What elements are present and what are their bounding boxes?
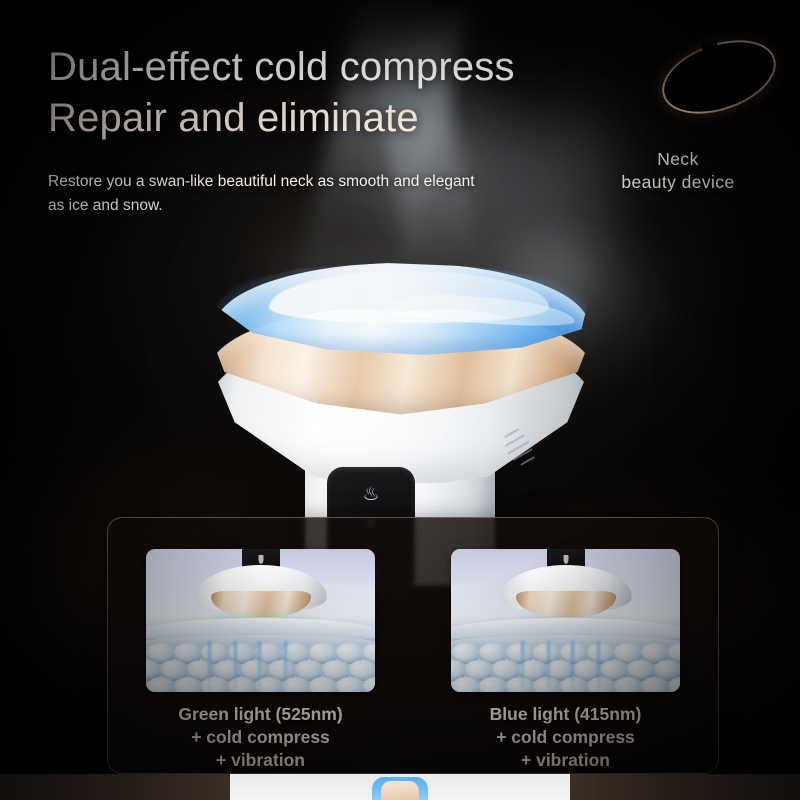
skin-cell (559, 677, 589, 692)
feature-grid: Green light (525nm) + cold compress + vi… (108, 518, 718, 773)
skin-cell (227, 677, 257, 692)
caption-line-2: + cold compress (490, 726, 642, 749)
next-section-product (372, 777, 428, 800)
plate-split-highlight (384, 290, 575, 329)
skin-cell (478, 677, 508, 692)
skin-cell (335, 677, 365, 692)
light-beam (258, 641, 261, 692)
light-beam (521, 641, 524, 692)
blue-light-illustration (451, 549, 680, 692)
flame-icon: ♨ (327, 483, 415, 506)
skin-cell (451, 677, 481, 692)
skin-cell (173, 677, 203, 692)
skin-cells-layer (451, 643, 680, 692)
feature-card-green-light[interactable]: Green light (525nm) + cold compress + vi… (135, 549, 387, 771)
caption-line-3: + vibration (490, 749, 642, 772)
light-beam (234, 641, 237, 692)
green-light-illustration (146, 549, 375, 692)
mini-gold-band (211, 591, 311, 617)
brand-label: Neck beauty device (578, 148, 778, 194)
strip-edge-left (0, 774, 230, 800)
skin-cell (505, 677, 535, 692)
headline-block: Dual-effect cold compress Repair and eli… (48, 42, 648, 144)
subtitle-text: Restore you a swan-like beautiful neck a… (48, 170, 478, 218)
caption-line-1: Green light (525nm) (178, 703, 342, 726)
brand-label-line-1: Neck (578, 148, 778, 171)
skin-cell (200, 677, 230, 692)
skin-cell (640, 677, 670, 692)
light-beam (571, 641, 574, 692)
caption-line-2: + cold compress (178, 726, 342, 749)
caption-line-1: Blue light (415nm) (490, 703, 642, 726)
strip-edge-right (570, 774, 800, 800)
next-section-strip (0, 774, 800, 800)
mini-gold-band (516, 591, 616, 617)
caption-line-3: + vibration (178, 749, 342, 772)
product-banner: Dual-effect cold compress Repair and eli… (0, 0, 800, 800)
headline-line-1: Dual-effect cold compress (48, 42, 648, 93)
light-beam (597, 641, 600, 692)
light-beam (208, 641, 211, 692)
light-beam (547, 641, 550, 692)
green-light-caption: Green light (525nm) + cold compress + vi… (178, 703, 342, 771)
skin-cell (308, 677, 338, 692)
skin-cell (586, 677, 616, 692)
blue-light-caption: Blue light (415nm) + cold compress + vib… (490, 703, 642, 771)
headline-line-2: Repair and eliminate (48, 93, 648, 144)
brand-label-line-2: beauty device (578, 171, 778, 194)
feature-panel: Green light (525nm) + cold compress + vi… (107, 517, 719, 774)
feature-card-blue-light[interactable]: Blue light (415nm) + cold compress + vib… (440, 549, 692, 771)
light-beam (284, 641, 287, 692)
skin-cell (146, 677, 176, 692)
skin-cell (613, 677, 643, 692)
